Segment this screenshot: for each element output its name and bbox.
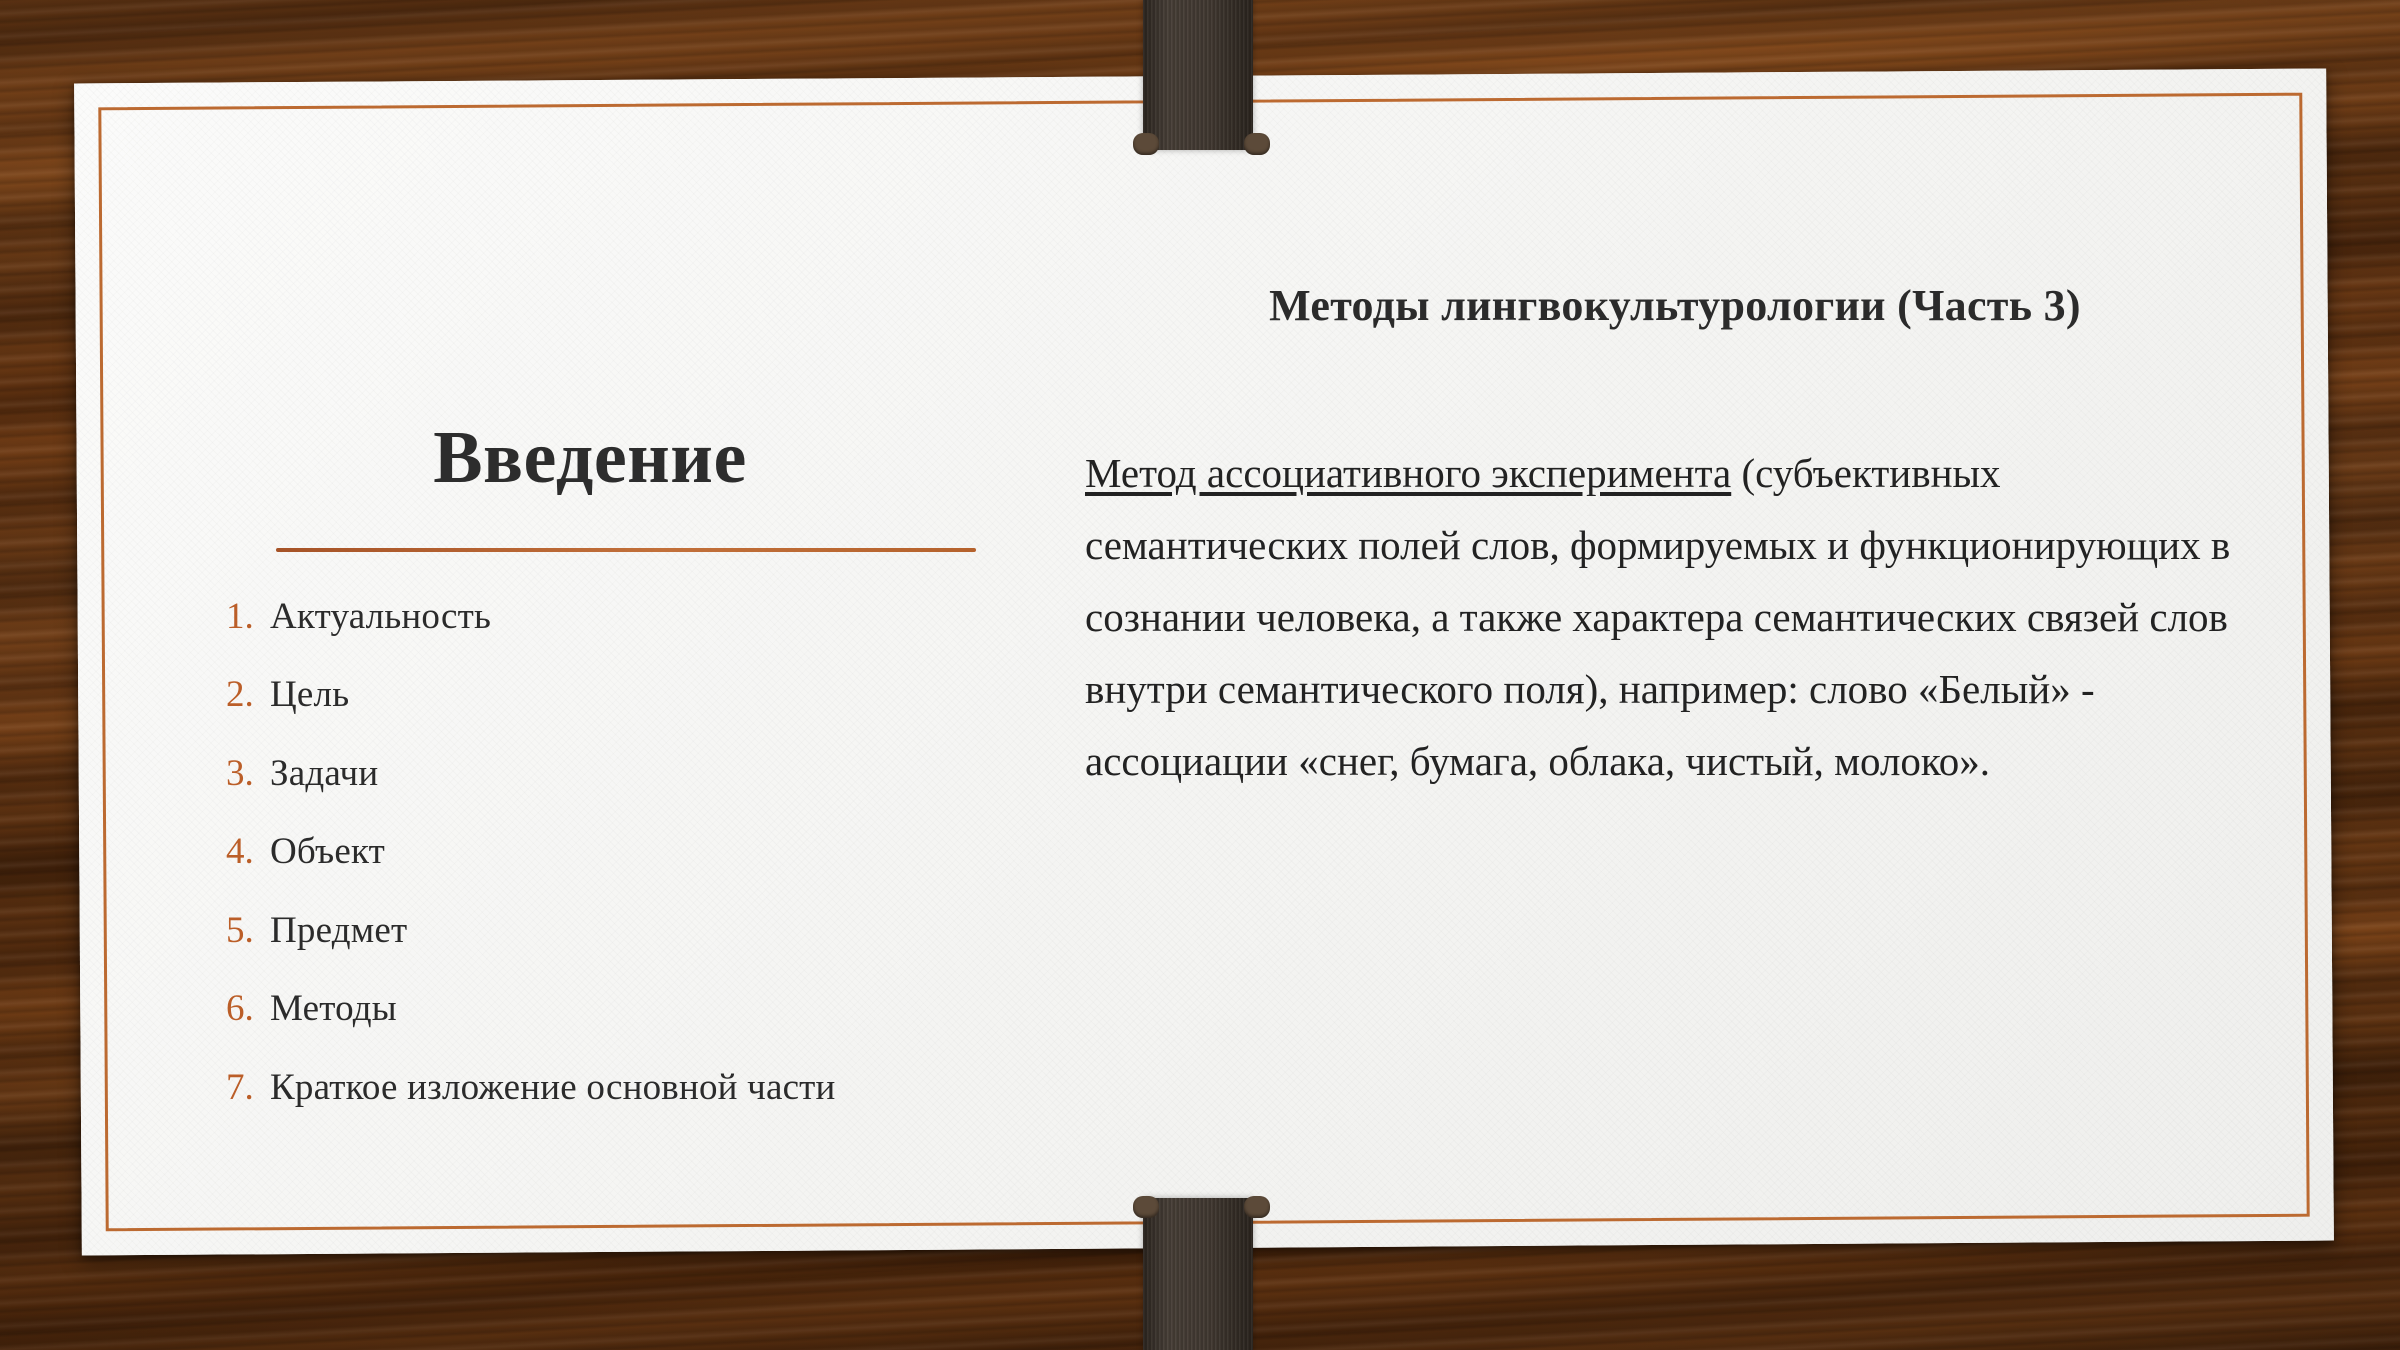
list-item-number: 5. (200, 910, 270, 953)
list-item-number: 3. (200, 753, 270, 796)
agenda-list: 1. Актуальность 2. Цель 3. Задачи 4. Объ… (200, 596, 980, 1110)
strap-cap-bottom-left (1133, 1196, 1159, 1218)
list-item-number: 7. (200, 1067, 270, 1110)
method-name-underlined: Метод ассоциативного эксперимента (1085, 450, 1731, 496)
agenda-column: Введение 1. Актуальность 2. Цель 3. Зада… (200, 420, 980, 1146)
list-item-label: Объект (270, 831, 385, 874)
list-item-number: 6. (200, 988, 270, 1031)
body-paragraph-rest: (субъективных семантических полей слов, … (1085, 450, 2230, 784)
slide-title: Методы лингвокультурологии (Часть 3) (1085, 280, 2265, 333)
list-item[interactable]: 6. Методы (200, 988, 980, 1031)
list-item-label: Краткое изложение основной части (270, 1067, 836, 1110)
body-paragraph: Метод ассоциативного эксперимента (субъе… (1085, 437, 2265, 797)
list-item[interactable]: 3. Задачи (200, 753, 980, 796)
list-item[interactable]: 4. Объект (200, 831, 980, 874)
presentation-slide: Введение 1. Актуальность 2. Цель 3. Зада… (0, 0, 2400, 1350)
list-item-label: Методы (270, 988, 397, 1031)
list-item[interactable]: 7. Краткое изложение основной части (200, 1067, 980, 1110)
list-item[interactable]: 2. Цель (200, 674, 980, 717)
list-item-number: 1. (200, 596, 270, 639)
strap-cap-top-left (1133, 133, 1159, 155)
heading-divider (276, 548, 976, 552)
list-item[interactable]: 5. Предмет (200, 910, 980, 953)
list-item-number: 4. (200, 831, 270, 874)
list-item-label: Актуальность (270, 596, 491, 639)
ribbon-strap-top (1143, 0, 1253, 150)
list-item-label: Задачи (270, 753, 378, 796)
ribbon-strap-bottom (1143, 1198, 1253, 1350)
strap-cap-bottom-right (1244, 1196, 1270, 1218)
list-item-label: Предмет (270, 910, 407, 953)
list-item[interactable]: 1. Актуальность (200, 596, 980, 639)
list-item-label: Цель (270, 674, 349, 717)
content-column: Методы лингвокультурологии (Часть 3) Мет… (1085, 280, 2265, 797)
introduction-heading: Введение (200, 420, 980, 498)
list-item-number: 2. (200, 674, 270, 717)
strap-cap-top-right (1244, 133, 1270, 155)
